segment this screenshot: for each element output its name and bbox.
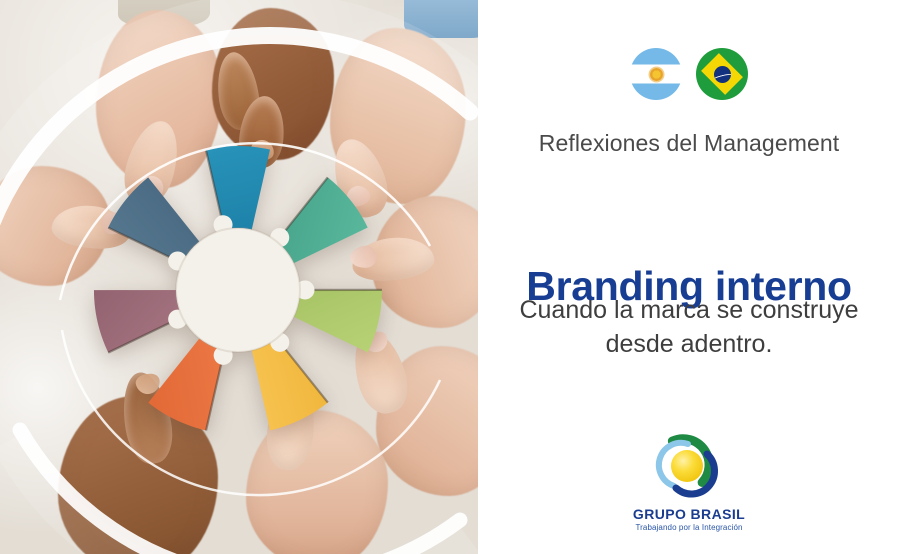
grupo-brasil-logo-mark-icon <box>646 424 732 504</box>
tagline-line-2: desde adentro. <box>494 328 884 362</box>
kicker-text: Reflexiones del Management <box>478 130 900 157</box>
brazil-banner-band <box>714 71 731 82</box>
logo-slogan: Trabajando por la Integración <box>635 523 742 532</box>
logo-company-name: GRUPO BRASIL <box>633 506 745 522</box>
content-panel: Reflexiones del Management Branding inte… <box>478 0 900 554</box>
sun-of-may-icon <box>650 68 663 81</box>
brazil-flag-icon <box>696 48 748 100</box>
argentina-flag-icon <box>630 48 682 100</box>
puzzle-ring <box>88 140 388 440</box>
flags-row <box>478 48 900 100</box>
tagline-line-1: Cuando la marca se construye <box>494 294 884 328</box>
tagline: Cuando la marca se construye desde adent… <box>494 294 884 361</box>
brazil-globe <box>714 66 731 83</box>
hero-photo <box>0 0 478 554</box>
brand-logo: GRUPO BRASIL Trabajando por la Integraci… <box>478 424 900 532</box>
slide-canvas: Reflexiones del Management Branding inte… <box>0 0 900 554</box>
